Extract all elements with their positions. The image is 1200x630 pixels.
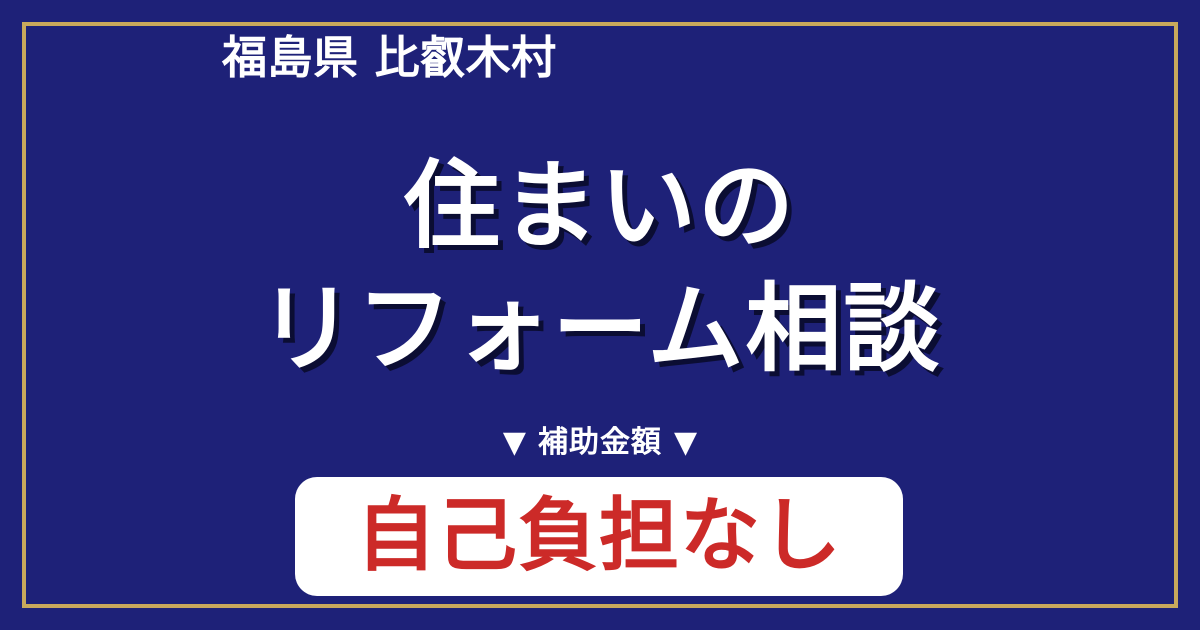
headline-line-1: 住まいの — [0, 150, 1200, 263]
reform-consultation-banner: 福島県 比叡木村 住まいの リフォーム相談 ▼ 補助金額 ▼ 自己負担なし — [0, 0, 1200, 630]
subsidy-amount-label: 補助金額 — [538, 428, 662, 458]
triangle-down-left-icon: ▼ — [503, 428, 526, 458]
amount-callout-text: 自己負担なし — [356, 496, 842, 576]
subsidy-label-row: ▼ 補助金額 ▼ — [0, 428, 1200, 458]
municipality-title: 福島県 比叡木村 — [222, 35, 557, 80]
triangle-down-right-icon: ▼ — [674, 428, 697, 458]
headline-block: 住まいの リフォーム相談 — [0, 150, 1200, 387]
amount-callout-box: 自己負担なし — [295, 477, 903, 596]
headline-line-2: リフォーム相談 — [0, 273, 1200, 386]
header-area: 福島県 比叡木村 — [222, 22, 982, 92]
